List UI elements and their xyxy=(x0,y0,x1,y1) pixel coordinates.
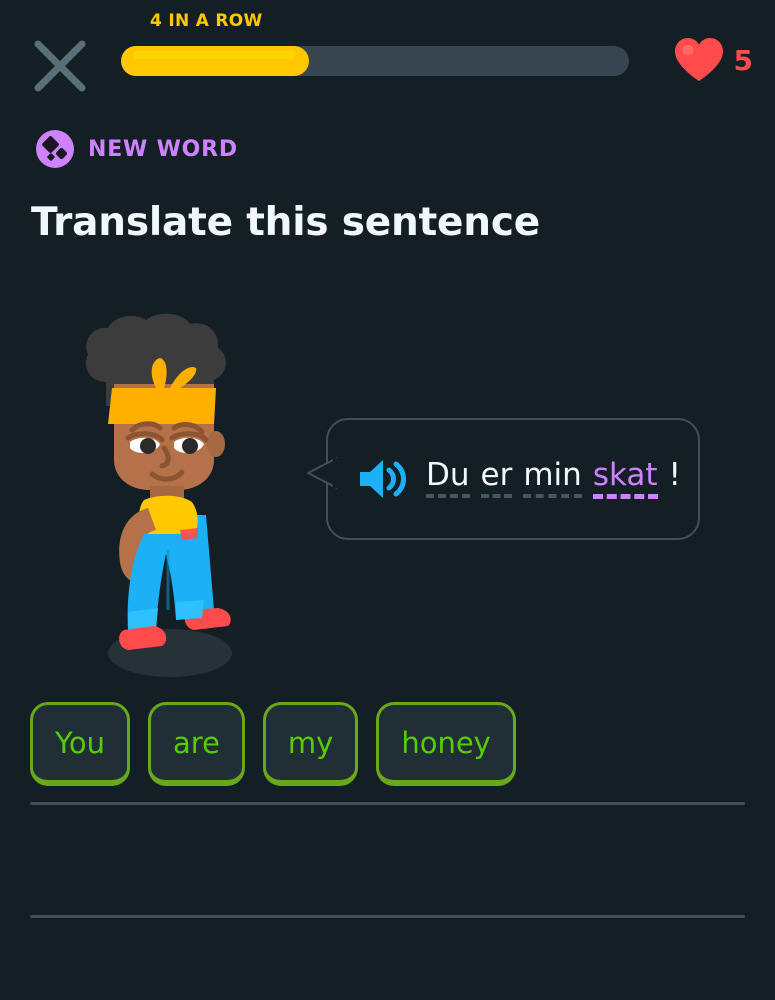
token-word: ! xyxy=(669,459,681,492)
sentence-token: er xyxy=(481,459,513,499)
speech-bubble-content: Du er min skat ! xyxy=(326,418,700,540)
word-tile[interactable]: You xyxy=(30,702,130,786)
word-tile[interactable]: my xyxy=(263,702,358,786)
new-word-label: NEW WORD xyxy=(88,137,238,162)
heart-icon xyxy=(672,36,726,84)
word-tile[interactable]: are xyxy=(148,702,245,786)
sparkle-diamond-medium xyxy=(55,147,68,160)
token-underline xyxy=(426,494,470,498)
token-word: min xyxy=(523,459,581,492)
sentence-token: Du xyxy=(426,459,470,499)
lesson-header: 4 IN A ROW 5 xyxy=(0,0,775,105)
close-icon[interactable] xyxy=(30,36,90,96)
token-word: Du xyxy=(426,459,470,492)
token-underline xyxy=(593,494,658,499)
lesson-progress-fill xyxy=(121,46,309,76)
token-underline xyxy=(523,494,581,498)
heart-count-label: 5 xyxy=(734,44,753,77)
sentence-token-new-word[interactable]: skat xyxy=(593,459,658,500)
prompt-sentence: Du er min skat ! xyxy=(426,459,681,500)
new-word-sparkle-icon xyxy=(36,130,74,168)
token-word: er xyxy=(481,459,513,492)
word-tile[interactable]: honey xyxy=(376,702,516,786)
answer-line-2[interactable] xyxy=(30,915,745,918)
new-word-badge: NEW WORD xyxy=(36,130,238,168)
token-underline xyxy=(481,494,513,498)
progress-shine xyxy=(133,51,295,59)
answer-line-1[interactable] xyxy=(30,802,745,805)
lesson-progress-bar[interactable] xyxy=(121,46,629,76)
word-bank: You are my honey xyxy=(30,702,516,786)
sentence-token-punctuation: ! xyxy=(669,459,681,495)
streak-label: 4 IN A ROW xyxy=(150,11,263,31)
zari-character-illustration xyxy=(78,310,258,690)
page-title: Translate this sentence xyxy=(31,200,540,245)
hearts-counter[interactable]: 5 xyxy=(672,36,753,84)
token-word: skat xyxy=(593,459,658,492)
prompt-speech-bubble[interactable]: Du er min skat ! xyxy=(304,418,700,540)
speaker-audio-icon[interactable] xyxy=(356,457,408,501)
sentence-token: min xyxy=(523,459,581,499)
sparkle-diamond-small xyxy=(47,153,55,161)
